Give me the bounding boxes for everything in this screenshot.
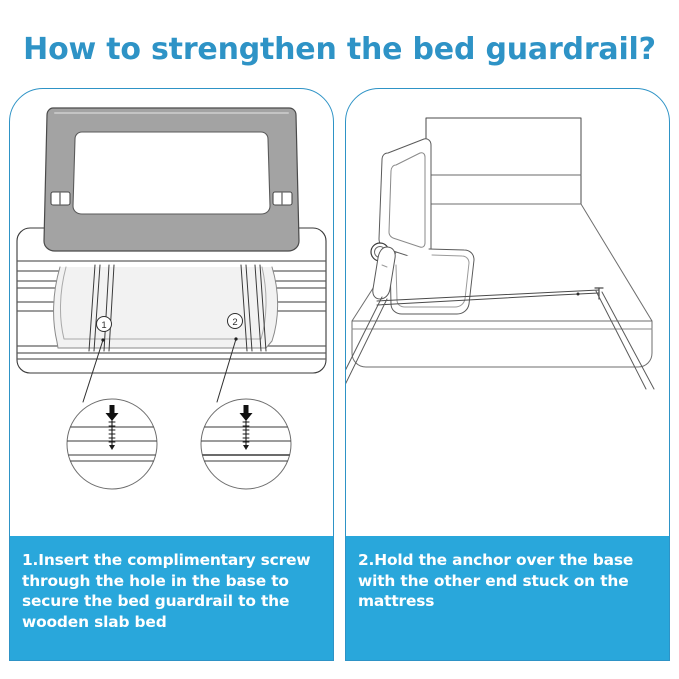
headboard — [426, 118, 581, 204]
bed-guardrail-anchor-strap-on-mattress-diagram — [346, 89, 669, 538]
callout-marker-2: 2 — [228, 314, 243, 329]
step-1-illustration: 1 2 — [10, 89, 333, 538]
bed-guardrail-on-slat-base-diagram: 1 2 — [10, 89, 333, 538]
guardrail-mesh-window — [73, 132, 270, 214]
step-2-caption: 2.Hold the anchor over the base with the… — [346, 536, 669, 660]
detail-circle-2 — [199, 399, 294, 489]
callout-marker-1-label: 1 — [101, 320, 106, 331]
step-1-caption: 1.Insert the complimentary screw through… — [10, 536, 333, 660]
guardrail-base-plate — [390, 249, 474, 314]
mattress-side — [352, 321, 652, 367]
page-title: How to strengthen the bed guardrail? — [0, 32, 679, 67]
detail-circle-1 — [65, 399, 160, 489]
infographic-page: How to strengthen the bed guardrail? — [0, 0, 679, 679]
callout-marker-2-label: 2 — [232, 317, 237, 328]
step-panel-1: 1 2 — [9, 88, 334, 661]
guardrail-panel — [379, 139, 431, 261]
guardrail-side-bracket-right — [273, 192, 292, 205]
guardrail-side-bracket-left — [51, 192, 70, 205]
step-2-illustration — [346, 89, 669, 538]
callout-marker-1: 1 — [97, 317, 112, 332]
step-panel-2: 2.Hold the anchor over the base with the… — [345, 88, 670, 661]
